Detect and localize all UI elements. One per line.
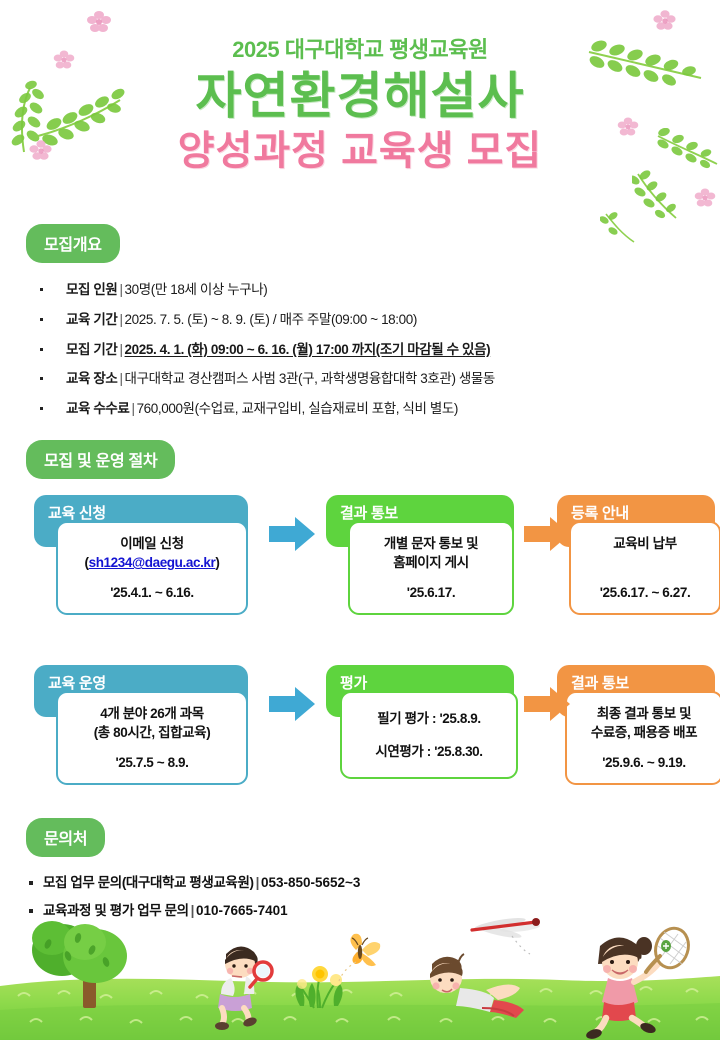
overview-item: 모집 인원|30명(만 18세 이상 누구나) (26, 280, 696, 300)
flow-step-tab-label: 교육 신청 (48, 505, 106, 522)
flow-step-card: 이메일 신청 (sh1234@daegu.ac.kr) '25.4.1. ~ 6… (56, 521, 248, 615)
flow-card-line: 홈페이지 게시 (358, 553, 504, 572)
poster-header: 2025 대구대학교 평생교육원 자연환경해설사 양성과정 교육생 모집 (0, 36, 720, 174)
flow-step-tab-label: 결과 통보 (571, 675, 629, 692)
process-section: 모집 및 운영 절차 교육 신청 이메일 신청 (sh1234@daegu.ac… (26, 440, 706, 807)
flow-card-line: 교육비 납부 (579, 534, 711, 553)
butterfly-illustration (338, 934, 380, 984)
flow-step-final-result: 결과 통보 최종 결과 통보 및 수료증, 패용증 배포 '25.9.6. ~ … (557, 665, 715, 785)
flower-decoration-top-right (652, 8, 678, 34)
overview-item-label: 모집 인원 (66, 282, 117, 297)
contact-list: 모집 업무 문의(대구대학교 평생교육원)|053-850-5652~3 교육과… (26, 873, 686, 922)
flow-card-date: '25.6.17. ~ 6.27. (579, 583, 711, 602)
flow-step-operation: 교육 운영 4개 분야 26개 과목 (총 80시간, 집합교육) '25.7.… (34, 665, 248, 785)
flow-arrow-right-icon (269, 517, 315, 556)
flow-card-date: '25.4.1. ~ 6.16. (66, 583, 238, 602)
flow-step-tab-label: 평가 (340, 675, 367, 692)
flow-step-card: 최종 결과 통보 및 수료증, 패용증 배포 '25.9.6. ~ 9.19. (565, 691, 720, 785)
flow-step-card: 4개 분야 26개 과목 (총 80시간, 집합교육) '25.7.5 ~ 8.… (56, 691, 248, 785)
process-badge: 모집 및 운영 절차 (26, 440, 175, 479)
contact-item-label: 모집 업무 문의(대구대학교 평생교육원) (43, 875, 254, 890)
flow-step-registration: 등록 안내 교육비 납부 '25.6.17. ~ 6.27. (557, 495, 715, 615)
contact-badge: 문의처 (26, 818, 105, 857)
flower-decoration-top-left-upper (85, 8, 113, 36)
flow-step-tab-label: 교육 운영 (48, 675, 106, 692)
overview-item-label: 교육 기간 (66, 312, 117, 327)
bottom-illustration (0, 910, 720, 1040)
flow-step-card: 개별 문자 통보 및 홈페이지 게시 '25.6.17. (348, 521, 514, 615)
flow-step-result-notice: 결과 통보 개별 문자 통보 및 홈페이지 게시 '25.6.17. (326, 495, 514, 615)
overview-item-value: 대구대학교 경산캠퍼스 사범 3관(구, 과학생명융합대학 3호관) 생물동 (125, 371, 495, 386)
contact-section: 문의처 모집 업무 문의(대구대학교 평생교육원)|053-850-5652~3… (26, 818, 686, 930)
flow-card-date: '25.7.5 ~ 8.9. (66, 753, 238, 772)
overview-badge: 모집개요 (26, 224, 120, 263)
flow-card-email-line: (sh1234@daegu.ac.kr) (66, 553, 238, 572)
overview-item: 교육 장소|대구대학교 경산캠퍼스 사범 3관(구, 과학생명융합대학 3호관)… (26, 369, 696, 389)
poster-root: 2025 대구대학교 평생교육원 자연환경해설사 양성과정 교육생 모집 모집개… (0, 0, 720, 1040)
contact-item: 교육과정 및 평가 업무 문의|010-7665-7401 (26, 901, 686, 921)
flow-row-1: 교육 신청 이메일 신청 (sh1234@daegu.ac.kr) '25.4.… (26, 495, 706, 643)
flow-card-line: 이메일 신청 (66, 534, 238, 553)
contact-item-phone: 053-850-5652~3 (261, 875, 360, 890)
overview-item-label: 교육 장소 (66, 371, 117, 386)
overview-item-value: 30명(만 18세 이상 누구나) (125, 282, 268, 297)
email-paren-close: ) (215, 555, 219, 570)
flow-card-date: '25.6.17. (358, 583, 504, 602)
email-link[interactable]: sh1234@daegu.ac.kr (89, 555, 216, 570)
flow-arrow-right-icon (524, 517, 570, 556)
flow-rows: 교육 신청 이메일 신청 (sh1234@daegu.ac.kr) '25.4.… (26, 495, 706, 807)
leaf-decoration-right-lower (632, 170, 702, 225)
overview-item-label: 교육 수수료 (66, 401, 129, 416)
contact-item-phone: 010-7665-7401 (196, 903, 288, 918)
overview-item-value: 760,000원(수업료, 교재구입비, 실습재료비 포함, 식비 별도) (137, 401, 458, 416)
flow-card-line: 수료증, 패용증 배포 (575, 723, 713, 742)
flow-card-line: 개별 문자 통보 및 (358, 534, 504, 553)
overview-item: 교육 기간|2025. 7. 5. (토) ~ 8. 9. (토) / 매주 주… (26, 310, 696, 330)
flow-step-tab-label: 결과 통보 (340, 505, 398, 522)
flow-arrow-right-icon (269, 687, 315, 726)
overview-item: 모집 기간|2025. 4. 1. (화) 09:00 ~ 6. 16. (월)… (26, 340, 696, 360)
flow-card-line: 4개 분야 26개 과목 (66, 704, 238, 723)
flow-row-2: 교육 운영 4개 분야 26개 과목 (총 80시간, 집합교육) '25.7.… (26, 665, 706, 807)
flow-card-line: 최종 결과 통보 및 (575, 704, 713, 723)
flow-step-apply: 교육 신청 이메일 신청 (sh1234@daegu.ac.kr) '25.4.… (34, 495, 248, 615)
flow-card-line: 시연평가 : '25.8.30. (350, 742, 508, 761)
flower-decoration-right-bottom (693, 186, 717, 210)
flow-card-line: (총 80시간, 집합교육) (66, 723, 238, 742)
overview-list: 모집 인원|30명(만 18세 이상 누구나) 교육 기간|2025. 7. 5… (26, 280, 696, 419)
overview-item-value: 2025. 4. 1. (화) 09:00 ~ 6. 16. (월) 17:00… (125, 342, 491, 357)
flow-step-card: 필기 평가 : '25.8.9. 시연평가 : '25.8.30. (340, 691, 518, 779)
overview-section: 모집개요 모집 인원|30명(만 18세 이상 누구나) 교육 기간|2025.… (26, 224, 696, 429)
flow-step-card: 교육비 납부 '25.6.17. ~ 6.27. (569, 521, 720, 615)
header-title-main: 자연환경해설사 (0, 68, 720, 124)
contact-item-label: 교육과정 및 평가 업무 문의 (43, 903, 189, 918)
header-title-sub: 양성과정 교육생 모집 (0, 128, 720, 174)
header-kicker: 2025 대구대학교 평생교육원 (0, 36, 720, 64)
flow-arrow-right-icon (524, 687, 570, 726)
flow-step-tab-label: 등록 안내 (571, 505, 629, 522)
flow-card-line: 필기 평가 : '25.8.9. (350, 709, 508, 728)
flow-step-evaluation: 평가 필기 평가 : '25.8.9. 시연평가 : '25.8.30. (326, 665, 514, 779)
flow-card-date: '25.9.6. ~ 9.19. (575, 753, 713, 772)
contact-item: 모집 업무 문의(대구대학교 평생교육원)|053-850-5652~3 (26, 873, 686, 893)
overview-item: 교육 수수료|760,000원(수업료, 교재구입비, 실습재료비 포함, 식비… (26, 399, 696, 419)
overview-item-label: 모집 기간 (66, 342, 117, 357)
overview-item-value: 2025. 7. 5. (토) ~ 8. 9. (토) / 매주 주말(09:0… (125, 312, 417, 327)
